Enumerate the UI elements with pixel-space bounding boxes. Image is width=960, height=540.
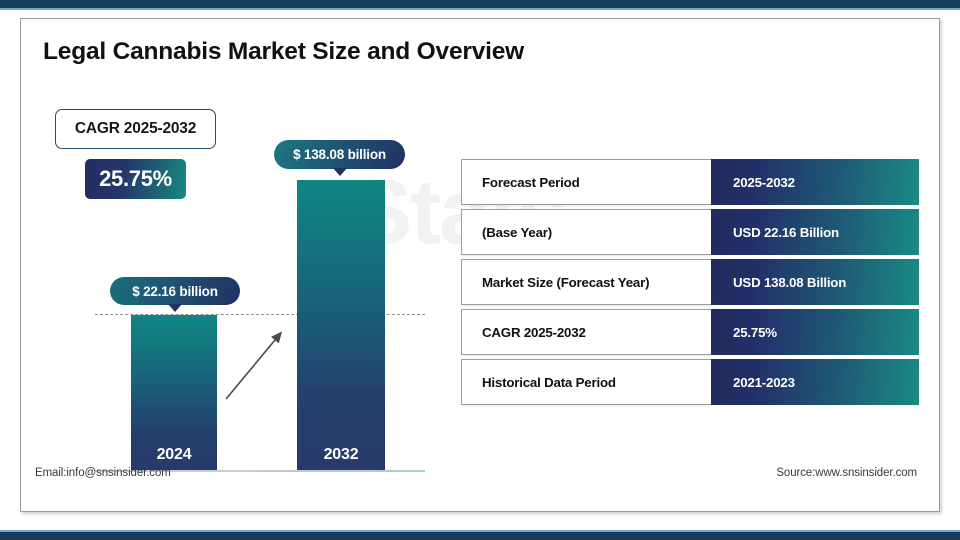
table-row: Forecast Period 2025-2032 [461, 159, 921, 205]
bar-category-label-2032: 2032 [297, 446, 385, 464]
table-row-label: Historical Data Period [461, 359, 711, 405]
bottom-accent-band [0, 532, 960, 540]
table-row-label: Forecast Period [461, 159, 711, 205]
table-row-value: USD 138.08 Billion [711, 259, 919, 305]
table-row-value: 2021-2023 [711, 359, 919, 405]
top-accent-band [0, 0, 960, 8]
table-row-label: CAGR 2025-2032 [461, 309, 711, 355]
market-overview-table: Forecast Period 2025-2032 (Base Year) US… [461, 159, 921, 409]
growth-arrow-icon [216, 319, 301, 409]
footer-email: Email:info@snsinsider.com [35, 467, 171, 479]
table-row: (Base Year) USD 22.16 Billion [461, 209, 921, 255]
top-accent-line [0, 8, 960, 10]
content-panel: Stats Legal Cannabis Market Size and Ove… [20, 18, 940, 512]
table-row-value: USD 22.16 Billion [711, 209, 919, 255]
table-row-value: 25.75% [711, 309, 919, 355]
cagr-period-badge: CAGR 2025-2032 [55, 109, 216, 149]
page-title: Legal Cannabis Market Size and Overview [43, 38, 524, 66]
bar-2032 [297, 180, 385, 470]
table-row: CAGR 2025-2032 25.75% [461, 309, 921, 355]
footer-source: Source:www.snsinsider.com [776, 467, 917, 479]
table-row: Historical Data Period 2021-2023 [461, 359, 921, 405]
bar-value-label-2024: $ 22.16 billion [110, 277, 240, 305]
table-row-label: (Base Year) [461, 209, 711, 255]
bar-category-label-2024: 2024 [131, 446, 217, 464]
table-row-value: 2025-2032 [711, 159, 919, 205]
table-row-label: Market Size (Forecast Year) [461, 259, 711, 305]
bar-chart: CAGR 2025-2032 25.75% $ 22.16 billion $ … [21, 19, 461, 512]
cagr-value-badge: 25.75% [85, 159, 186, 199]
bottom-accent-line [0, 530, 960, 532]
slide-canvas: Stats Legal Cannabis Market Size and Ove… [0, 0, 960, 540]
table-row: Market Size (Forecast Year) USD 138.08 B… [461, 259, 921, 305]
bar-value-label-2032: $ 138.08 billion [274, 140, 405, 169]
